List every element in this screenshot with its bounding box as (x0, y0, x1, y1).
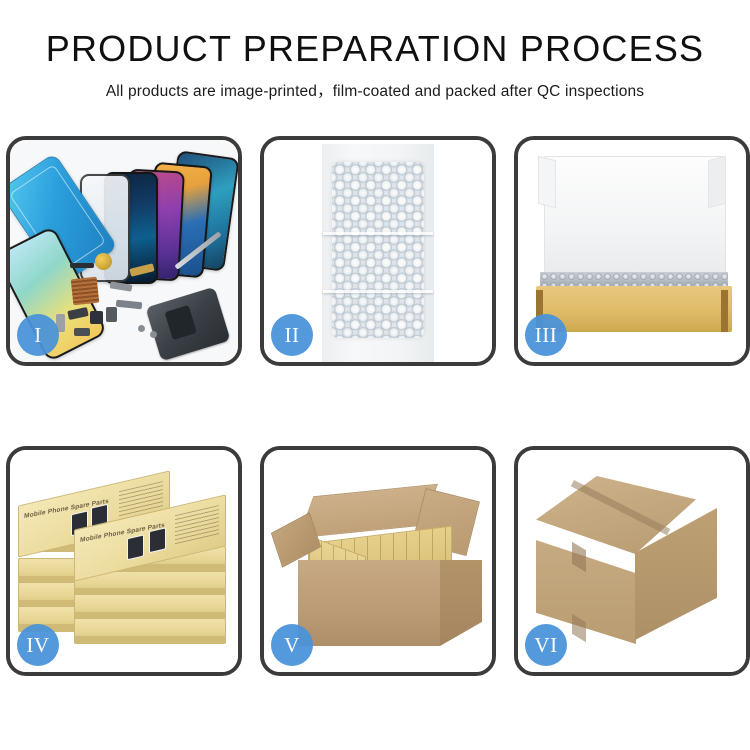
part-ribbon-icon (116, 300, 143, 310)
process-step-panel-3[interactable]: III (514, 136, 750, 366)
mailer-corner-right (721, 290, 728, 332)
step-badge-3: III (525, 314, 567, 356)
box-screen-graphic-3 (127, 534, 144, 560)
process-step-panel-6[interactable]: VI (514, 446, 750, 676)
carton-side-face (440, 560, 482, 646)
process-step-panel-4[interactable]: Mobile Phone Spare Parts Mobile Phone Sp… (6, 446, 242, 676)
mailer-lid-flap-left (538, 156, 556, 208)
process-step-panel-2[interactable]: II (260, 136, 496, 366)
wrap-seam-bottom (323, 290, 433, 293)
step-badge-1: I (17, 314, 59, 356)
box-screen-graphic-4 (149, 527, 166, 553)
stacked-box-11 (74, 618, 226, 644)
process-step-panel-5[interactable]: V (260, 446, 496, 676)
speaker-coil-icon (95, 253, 112, 270)
step-badge-4: IV (17, 624, 59, 666)
page-title: PRODUCT PREPARATION PROCESS (0, 30, 750, 68)
process-step-grid: I II III (6, 136, 744, 676)
wrap-seam-top (323, 232, 433, 235)
mailer-tray-icon (536, 286, 732, 332)
page-header: PRODUCT PREPARATION PROCESS All products… (0, 0, 750, 101)
step-badge-2: II (271, 314, 313, 356)
screw-1-icon (138, 325, 145, 332)
screw-2-icon (150, 331, 157, 338)
part-earpiece-icon (70, 263, 94, 268)
part-camera-icon (90, 311, 103, 324)
box-spec-lines-front (175, 505, 219, 545)
bubble-wrap-icon (332, 162, 424, 338)
stacked-box-10 (74, 594, 226, 620)
process-step-panel-1[interactable]: I (6, 136, 242, 366)
step-badge-5: V (271, 624, 313, 666)
part-battery-connector-icon (106, 307, 117, 322)
copper-pad-icon (71, 277, 100, 306)
mailer-lid-icon (544, 156, 726, 278)
logic-board-icon (145, 287, 230, 362)
part-bracket-icon (74, 328, 90, 336)
mailer-lid-flap-right (708, 156, 726, 208)
step-badge-6: VI (525, 624, 567, 666)
page-subtitle: All products are image-printed，film-coat… (0, 79, 750, 101)
carton-front-face (298, 560, 440, 646)
